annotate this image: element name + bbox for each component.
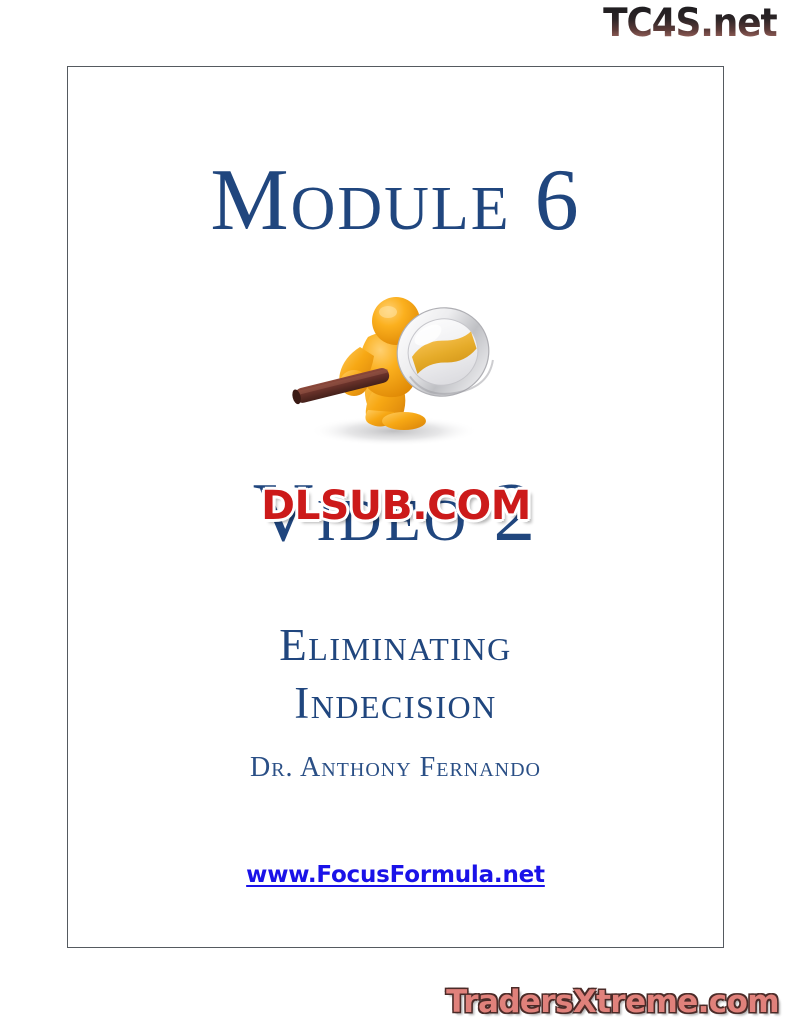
subtitle-line-1: Eliminating [68,617,723,675]
dlsub-watermark: DLSUB.COM [255,485,537,527]
video-line-block: Video 2 DLSUB.COM [68,465,723,575]
magnifying-glass-figure-illustration [276,279,506,454]
subtitle: Eliminating Indecision [68,617,723,732]
author-name: Dr. Anthony Fernando [68,754,723,782]
tradersxtreme-watermark: TradersXtreme.com [446,987,779,1018]
page-title: Module 6 [68,157,723,245]
tc4s-watermark: TC4S.net [604,4,777,43]
document-frame: Module 6 [67,66,724,948]
website-link-row: www.FocusFormula.net [68,862,723,888]
document-page: TC4S.net Module 6 [0,0,791,1024]
subtitle-line-2: Indecision [68,675,723,733]
website-link[interactable]: www.FocusFormula.net [246,862,545,888]
